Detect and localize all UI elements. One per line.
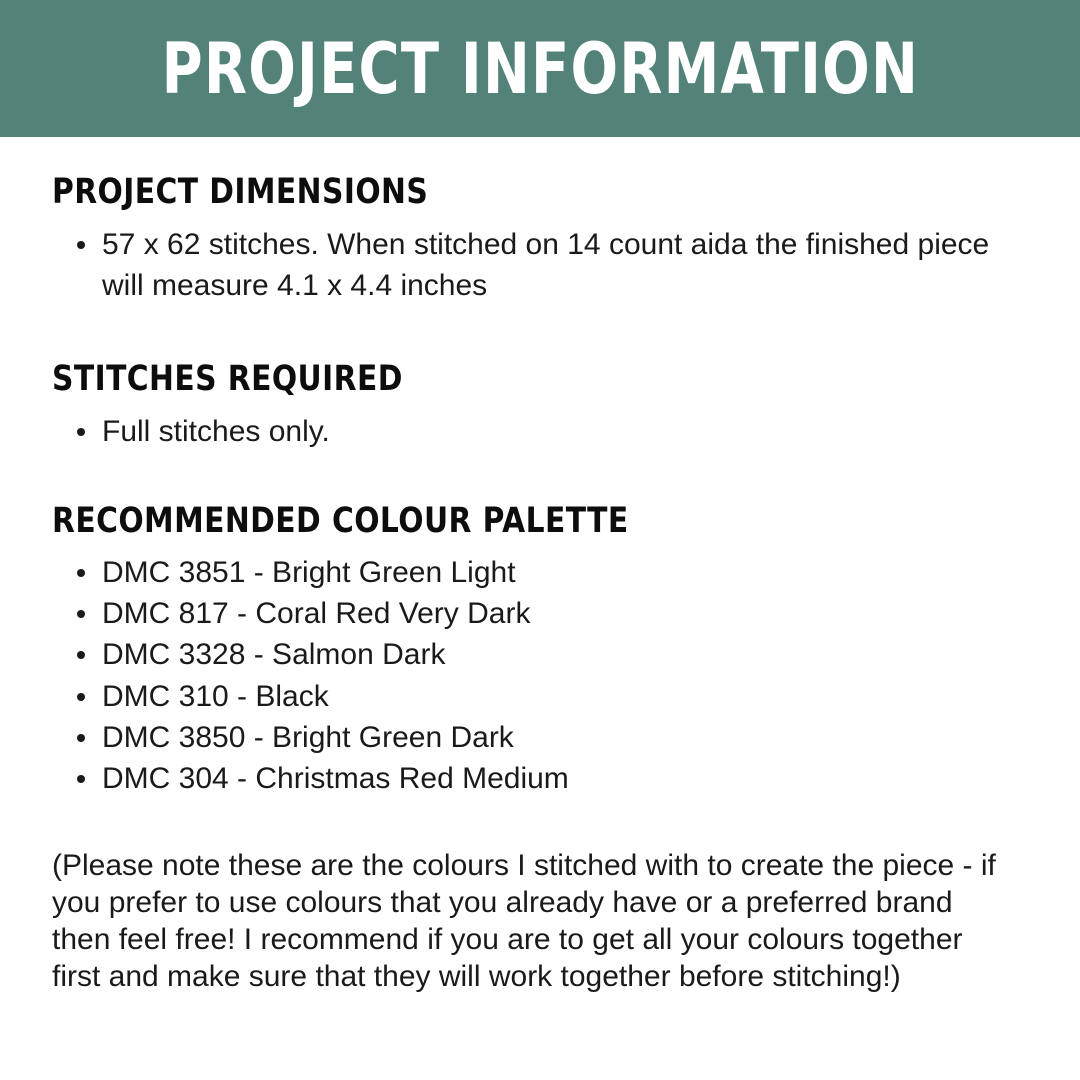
project-dimensions-list: 57 x 62 stitches. When stitched on 14 co…	[52, 210, 992, 306]
colour-palette-list: DMC 3851 - Bright Green Light DMC 817 - …	[52, 539, 1028, 799]
section-project-dimensions: PROJECT DIMENSIONS 57 x 62 stitches. Whe…	[52, 137, 1028, 306]
list-item: Full stitches only.	[52, 411, 1028, 452]
list-item: DMC 3851 - Bright Green Light	[52, 552, 1028, 593]
list-item: DMC 3328 - Salmon Dark	[52, 634, 1028, 675]
stitches-required-list: Full stitches only.	[52, 397, 1028, 452]
list-item: DMC 3850 - Bright Green Dark	[52, 717, 1028, 758]
section-recommended-colour-palette: RECOMMENDED COLOUR PALETTE DMC 3851 - Br…	[52, 452, 1028, 799]
list-item: DMC 310 - Black	[52, 676, 1028, 717]
list-item: 57 x 62 stitches. When stitched on 14 co…	[52, 224, 992, 306]
project-information-page: PROJECT INFORMATION PROJECT DIMENSIONS 5…	[0, 0, 1080, 1080]
section-heading-project-dimensions: PROJECT DIMENSIONS	[52, 137, 882, 210]
page-header-band: PROJECT INFORMATION	[0, 0, 1080, 137]
section-stitches-required: STITCHES REQUIRED Full stitches only.	[52, 306, 1028, 452]
list-item: DMC 817 - Coral Red Very Dark	[52, 593, 1028, 634]
page-title: PROJECT INFORMATION	[161, 34, 918, 104]
section-heading-recommended-colour-palette: RECOMMENDED COLOUR PALETTE	[52, 452, 882, 539]
page-content: PROJECT DIMENSIONS 57 x 62 stitches. Whe…	[0, 137, 1080, 996]
colour-palette-note: (Please note these are the colours I sti…	[52, 799, 1012, 996]
section-heading-stitches-required: STITCHES REQUIRED	[52, 306, 882, 397]
list-item: DMC 304 - Christmas Red Medium	[52, 758, 1028, 799]
